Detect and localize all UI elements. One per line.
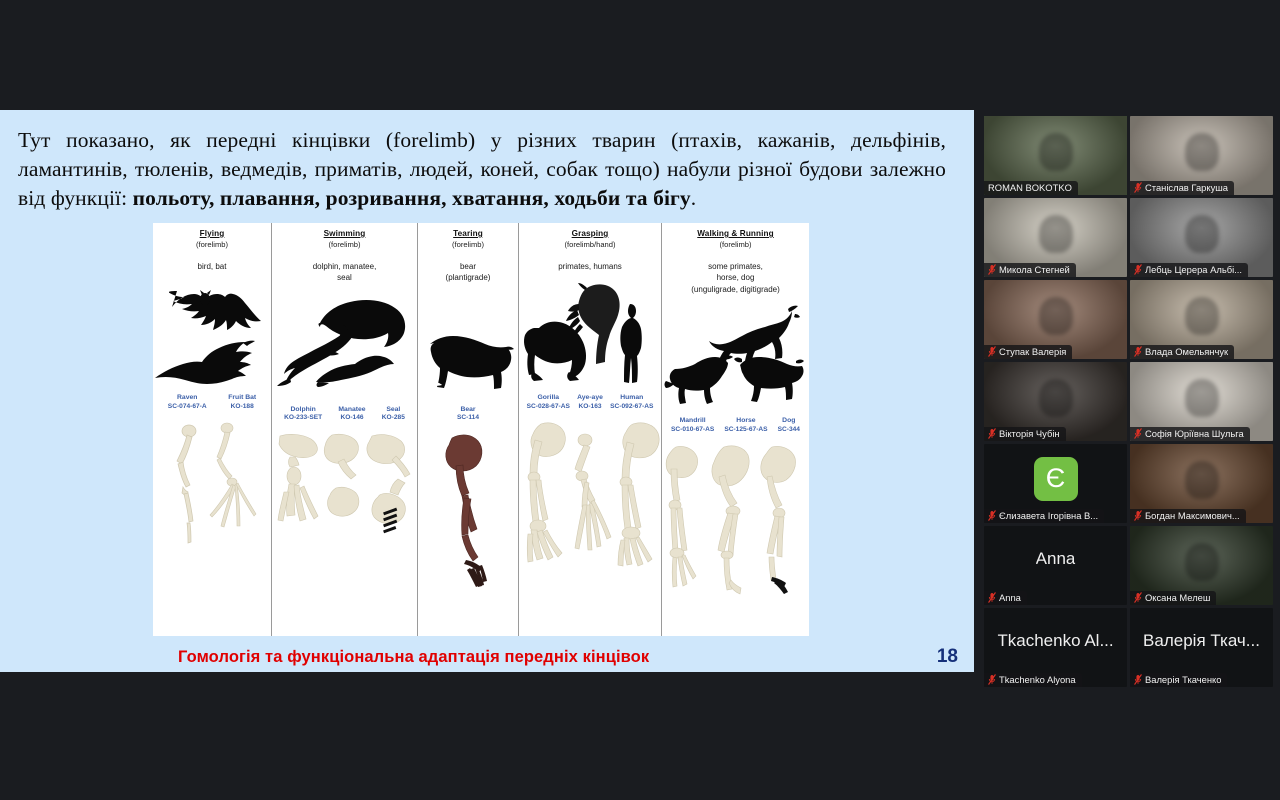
bone-area <box>662 441 809 636</box>
column-animals: primates, humans <box>519 261 661 272</box>
participant-tile[interactable]: AnnaAnna <box>984 526 1127 605</box>
participant-name: Ступак Валерія <box>999 346 1066 357</box>
participant-tile[interactable]: Оксана Мелеш <box>1130 526 1273 605</box>
participant-figure <box>1039 297 1073 335</box>
participant-name: Валерія Ткаченко <box>1145 674 1221 685</box>
participant-tile[interactable]: Софія Юріївна Шульга <box>1130 362 1273 441</box>
participant-namebar: Микола Стегней <box>984 263 1076 277</box>
participant-figure <box>1185 461 1219 499</box>
figure-column-tearing: Tearing (forelimb) bear (plantigrade) Be… <box>418 223 519 636</box>
column-subtitle: (forelimb/hand) <box>519 240 661 249</box>
fruit-bat-wing-bones <box>205 422 271 562</box>
specimen-name: Raven <box>168 394 207 402</box>
participant-name: Софія Юріївна Шульга <box>1145 428 1244 439</box>
specimen-code: SC-010-67-AS <box>671 426 714 434</box>
participant-row: ЄЄлизавета Ігорівна В...Богдан Максимови… <box>984 444 1276 523</box>
specimen-labels: Raven SC-074-67-A Fruit Bat KO-188 <box>153 394 271 418</box>
participant-row: ROMAN BOKOTKOСтаніслав Гаркуша <box>984 116 1276 195</box>
bone-area <box>519 418 661 636</box>
column-title: Tearing <box>418 229 518 238</box>
mandrill-forelimb-bones <box>662 443 706 593</box>
forelimb-comparison-figure: Flying (forelimb) bird, bat Raven SC-074… <box>153 223 809 636</box>
participant-figure <box>1185 379 1219 417</box>
figure-column-swimming: Swimming (forelimb) dolphin, manatee, se… <box>272 223 418 636</box>
slide-body-text: Тут показано, як передні кінцівки (forel… <box>18 126 946 214</box>
mandrill-silhouette <box>664 351 734 407</box>
specimen-code: KO-163 <box>577 403 603 411</box>
participant-tile[interactable]: Богдан Максимович... <box>1130 444 1273 523</box>
participant-row: Tkachenko Al...Tkachenko AlyonaВалерія Т… <box>984 608 1276 687</box>
participant-tile[interactable]: Вікторія Чубін <box>984 362 1127 441</box>
mic-muted-icon <box>988 428 996 439</box>
specimen-code: KO-285 <box>382 414 405 422</box>
participant-tile[interactable]: Валерія Ткач...Валерія Ткаченко <box>1130 608 1273 687</box>
human-silhouette <box>615 302 645 384</box>
column-title: Grasping <box>519 229 661 238</box>
specimen-label: Seal KO-285 <box>382 406 405 423</box>
participant-avatar-name: Anna <box>1036 549 1076 569</box>
mic-muted-icon <box>988 264 996 275</box>
specimen-code: SC-028-67-AS <box>527 403 570 411</box>
mic-muted-icon <box>1134 428 1142 439</box>
specimen-code: SC-074-67-A <box>168 403 207 411</box>
participant-namebar: Валерія Ткаченко <box>1130 673 1227 687</box>
participant-name: Anna <box>999 592 1021 603</box>
silhouette-area <box>662 299 809 417</box>
participant-namebar: Лебць Церера Альбі... <box>1130 263 1248 277</box>
participant-avatar-name: Tkachenko Al... <box>997 631 1113 651</box>
dog-forelimb-bones <box>754 443 802 598</box>
specimen-name: Seal <box>382 406 405 414</box>
participant-name: Єлизавета Ігорівна В... <box>999 510 1098 521</box>
specimen-name: Bear <box>457 406 479 414</box>
figure-column-flying: Flying (forelimb) bird, bat Raven SC-074… <box>153 223 272 636</box>
participant-tile[interactable]: Tkachenko Al...Tkachenko Alyona <box>984 608 1127 687</box>
aye-aye-silhouette <box>565 282 621 376</box>
column-title: Swimming <box>272 229 417 238</box>
participant-name: Лебць Церера Альбі... <box>1145 264 1242 275</box>
participant-tile[interactable]: ЄЄлизавета Ігорівна В... <box>984 444 1127 523</box>
column-subtitle: (forelimb) <box>153 240 271 249</box>
human-forelimb-bones <box>615 420 661 580</box>
silhouette-area <box>272 288 417 406</box>
participant-grid: ROMAN BOKOTKOСтаніслав ГаркушаМикола Сте… <box>984 116 1276 690</box>
slide-caption: Гомологія та функціональна адаптація пер… <box>178 648 649 667</box>
participant-tile[interactable]: ROMAN BOKOTKO <box>984 116 1127 195</box>
participant-namebar: Anna <box>984 591 1027 605</box>
participant-name: Влада Омельянчук <box>1145 346 1228 357</box>
silhouette-area <box>153 276 271 394</box>
dog-silhouette <box>732 351 804 407</box>
bone-area <box>272 430 417 636</box>
mic-muted-icon <box>988 346 996 357</box>
participant-figure <box>1185 543 1219 581</box>
raven-silhouette <box>155 338 255 384</box>
specimen-code: KO-188 <box>228 403 256 411</box>
specimen-label: Mandrill SC-010-67-AS <box>671 417 714 434</box>
manatee-flipper-bones <box>322 432 366 550</box>
participant-name: Микола Стегней <box>999 264 1070 275</box>
participant-figure <box>1039 379 1073 417</box>
shared-slide: Тут показано, як передні кінцівки (forel… <box>0 110 974 672</box>
participant-avatar-name: Валерія Ткач... <box>1143 631 1260 651</box>
slide-page-number: 18 <box>937 646 958 668</box>
bat-silhouette <box>169 290 265 334</box>
column-subtitle: (forelimb) <box>272 240 417 249</box>
participant-figure <box>1039 133 1073 171</box>
participants-panel: ROMAN BOKOTKOСтаніслав ГаркушаМикола Сте… <box>980 0 1280 800</box>
specimen-name: Aye-aye <box>577 394 603 402</box>
specimen-name: Manatee <box>338 406 365 414</box>
column-animals: some primates, horse, dog (unguligrade, … <box>662 261 809 295</box>
participant-name: Богдан Максимович... <box>1145 510 1240 521</box>
participant-tile[interactable]: Влада Омельянчук <box>1130 280 1273 359</box>
mic-muted-icon <box>1134 346 1142 357</box>
specimen-label: Aye-aye KO-163 <box>577 394 603 411</box>
participant-row: Микола СтегнейЛебць Церера Альбі... <box>984 198 1276 277</box>
participant-figure <box>1185 297 1219 335</box>
specimen-label: Manatee KO-146 <box>338 406 365 423</box>
specimen-label: Gorilla SC-028-67-AS <box>527 394 570 411</box>
bear-silhouette <box>420 330 516 392</box>
specimen-label: Fruit Bat KO-188 <box>228 394 256 411</box>
participant-tile[interactable]: Микола Стегней <box>984 198 1127 277</box>
column-animals: bear (plantigrade) <box>418 261 518 284</box>
participant-namebar: Софія Юріївна Шульга <box>1130 427 1250 441</box>
participant-row: Ступак ВалеріяВлада Омельянчук <box>984 280 1276 359</box>
specimen-label: Dolphin KO-233-SET <box>284 406 322 423</box>
mic-muted-icon <box>1134 674 1142 685</box>
specimen-label: Horse SC-125-67-AS <box>724 417 767 434</box>
participant-name: Оксана Мелеш <box>1145 592 1210 603</box>
participant-row: AnnaAnnaОксана Мелеш <box>984 526 1276 605</box>
bone-area <box>418 430 518 636</box>
seal-silhouette <box>316 354 398 388</box>
column-animals: bird, bat <box>153 261 271 272</box>
mic-muted-icon <box>988 510 996 521</box>
column-title: Walking & Running <box>662 229 809 238</box>
specimen-code: KO-146 <box>338 414 365 422</box>
participant-namebar: Ступак Валерія <box>984 345 1072 359</box>
mic-muted-icon <box>1134 182 1142 193</box>
participant-avatar-initial: Є <box>1034 457 1078 501</box>
specimen-name: Human <box>610 394 653 402</box>
participant-namebar: ROMAN BOKOTKO <box>984 181 1078 195</box>
specimen-label: Raven SC-074-67-A <box>168 394 207 411</box>
participant-namebar: Богдан Максимович... <box>1130 509 1246 523</box>
gorilla-forelimb-bones <box>521 420 569 580</box>
meeting-window: Тут показано, як передні кінцівки (forel… <box>0 0 1280 800</box>
figure-column-walking-running: Walking & Running (forelimb) some primat… <box>662 223 809 636</box>
specimen-label: Dog SC-344 <box>778 417 800 434</box>
participant-name: Станіслав Гаркуша <box>1145 182 1228 193</box>
silhouette-area <box>519 276 661 394</box>
specimen-labels: Dolphin KO-233-SET Manatee KO-146 Seal K… <box>272 406 417 430</box>
bone-area <box>153 418 271 636</box>
participant-namebar: Влада Омельянчук <box>1130 345 1234 359</box>
column-animals: dolphin, manatee, seal <box>272 261 417 284</box>
specimen-code: SC-114 <box>457 414 479 422</box>
figure-column-grasping: Grasping (forelimb/hand) primates, human… <box>519 223 662 636</box>
specimen-code: SC-092-67-AS <box>610 403 653 411</box>
seal-flipper-bones <box>366 432 412 550</box>
specimen-name: Dog <box>778 417 800 425</box>
participant-tile[interactable]: Ступак Валерія <box>984 280 1127 359</box>
raven-wing-bones <box>167 424 207 554</box>
mic-muted-icon <box>1134 510 1142 521</box>
specimen-name: Horse <box>724 417 767 425</box>
slide-text-end: . <box>691 186 696 210</box>
participant-namebar: Станіслав Гаркуша <box>1130 181 1234 195</box>
bear-forelimb-bones <box>440 432 496 592</box>
participant-namebar: Оксана Мелеш <box>1130 591 1216 605</box>
participant-row: Вікторія ЧубінСофія Юріївна Шульга <box>984 362 1276 441</box>
horse-forelimb-bones <box>708 443 756 598</box>
dolphin-flipper-bones <box>276 432 322 550</box>
mic-muted-icon <box>1134 264 1142 275</box>
specimen-labels: Gorilla SC-028-67-AS Aye-aye KO-163 Huma… <box>519 394 661 418</box>
participant-tile[interactable]: Лебць Церера Альбі... <box>1130 198 1273 277</box>
aye-aye-forelimb-bones <box>571 432 613 577</box>
participant-tile[interactable]: Станіслав Гаркуша <box>1130 116 1273 195</box>
mic-muted-icon <box>1134 592 1142 603</box>
specimen-code: SC-125-67-AS <box>724 426 767 434</box>
participant-figure <box>1185 133 1219 171</box>
specimen-labels: Mandrill SC-010-67-AS Horse SC-125-67-AS… <box>662 417 809 441</box>
specimen-name: Mandrill <box>671 417 714 425</box>
participant-name: Tkachenko Alyona <box>999 674 1076 685</box>
specimen-label: Bear SC-114 <box>457 406 479 423</box>
column-title: Flying <box>153 229 271 238</box>
participant-namebar: Вікторія Чубін <box>984 427 1066 441</box>
specimen-name: Gorilla <box>527 394 570 402</box>
mic-muted-icon <box>988 674 996 685</box>
slide-text-bold: польоту, плавання, розривання, хватання,… <box>133 186 691 210</box>
specimen-code: SC-344 <box>778 426 800 434</box>
specimen-code: KO-233-SET <box>284 414 322 422</box>
participant-namebar: Tkachenko Alyona <box>984 673 1082 687</box>
participant-figure <box>1039 215 1073 253</box>
participant-name: Вікторія Чубін <box>999 428 1060 439</box>
participant-name: ROMAN BOKOTKO <box>988 182 1072 193</box>
mic-muted-icon <box>988 592 996 603</box>
participant-namebar: Єлизавета Ігорівна В... <box>984 509 1104 523</box>
specimen-name: Dolphin <box>284 406 322 414</box>
column-subtitle: (forelimb) <box>418 240 518 249</box>
silhouette-area <box>418 288 518 406</box>
column-subtitle: (forelimb) <box>662 240 809 249</box>
specimen-name: Fruit Bat <box>228 394 256 402</box>
specimen-labels: Bear SC-114 <box>418 406 518 430</box>
specimen-label: Human SC-092-67-AS <box>610 394 653 411</box>
participant-figure <box>1185 215 1219 253</box>
